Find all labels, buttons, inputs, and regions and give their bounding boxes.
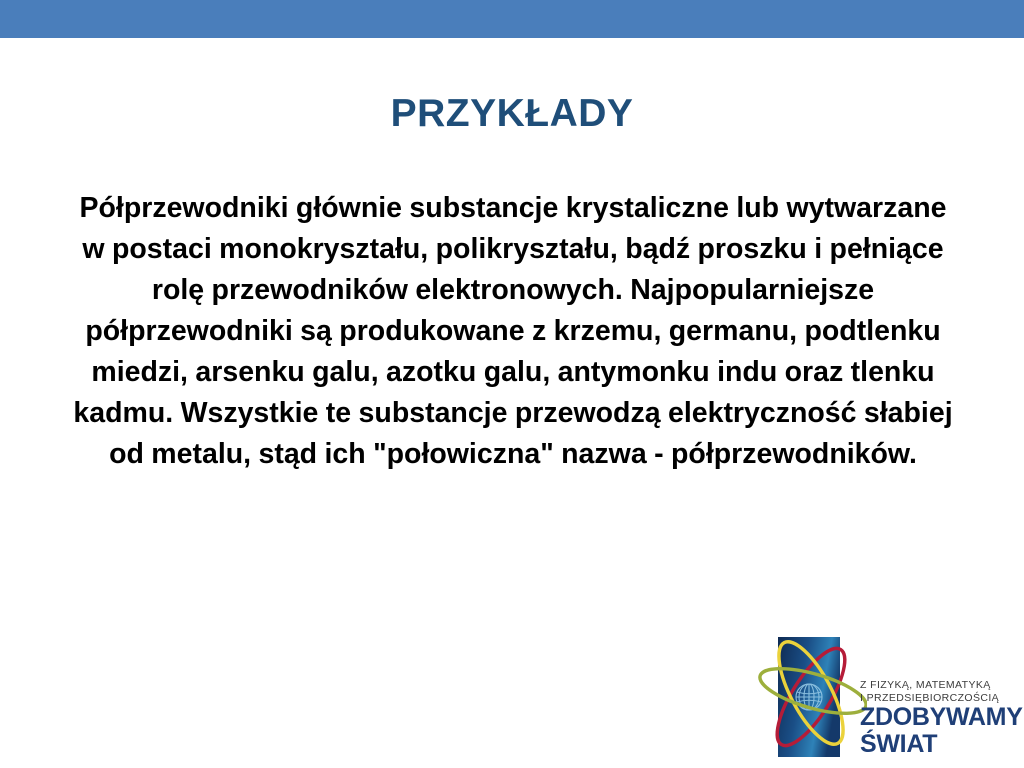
body-text-block: Półprzewodniki głównie substancje krysta… <box>67 188 959 475</box>
logo-text-block: Z FIZYKĄ, MATEMATYKĄ I PRZEDSIĘBIORCZOŚC… <box>860 679 1015 757</box>
top-accent-bar <box>0 0 1024 38</box>
slide: PRZYKŁADY Półprzewodniki głównie substan… <box>0 0 1024 768</box>
logo-word-swiat: ŚWIAT <box>860 731 1015 757</box>
logo: Z FIZYKĄ, MATEMATYKĄ I PRZEDSIĘBIORCZOŚC… <box>757 627 1015 763</box>
page-title: PRZYKŁADY <box>0 92 1024 136</box>
body-paragraph: Półprzewodniki głównie substancje krysta… <box>67 188 959 475</box>
globe-orbits-logo-mark <box>757 627 867 763</box>
logo-word-zdobywamy: ZDOBYWAMY <box>860 704 1015 730</box>
logo-tagline-line1: Z FIZYKĄ, MATEMATYKĄ <box>860 679 1015 692</box>
